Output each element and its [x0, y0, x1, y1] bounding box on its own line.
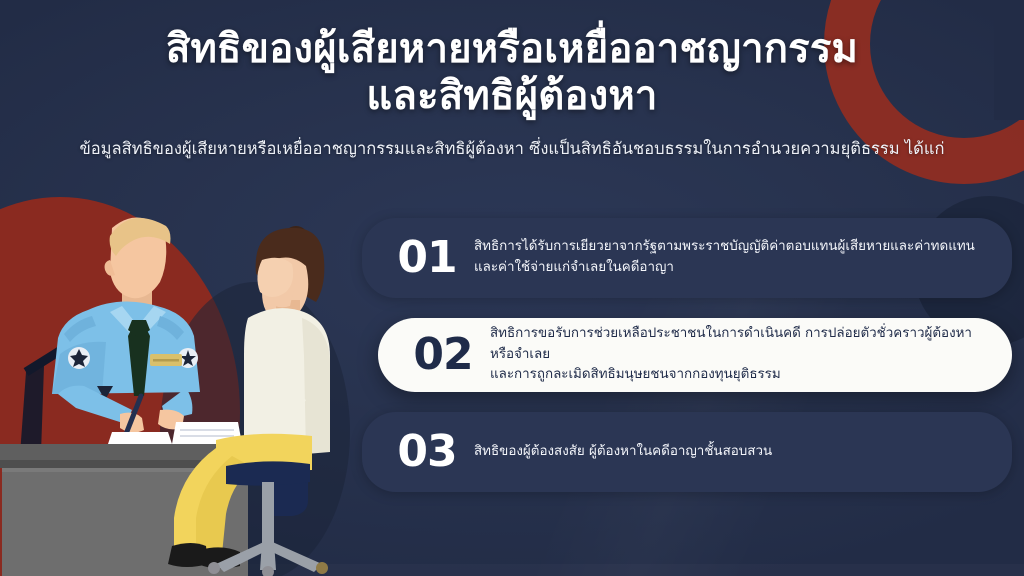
item-text-01-line-1: สิทธิการได้รับการเยียวยาจากรัฐตามพระราชบ… — [474, 239, 975, 254]
item-text-01: สิทธิการได้รับการเยียวยาจากรัฐตามพระราชบ… — [470, 237, 986, 279]
rights-item-02[interactable]: 02 สิทธิการขอรับการช่วยเหลือประชาชนในการ… — [378, 318, 1012, 392]
item-text-03-line-1: สิทธิของผู้ต้องสงสัย ผู้ต้องหาในคดีอาญาช… — [474, 444, 772, 459]
rights-item-01[interactable]: 01 สิทธิการได้รับการเยียวยาจากรัฐตามพระร… — [362, 218, 1012, 298]
page-title-line-1: สิทธิของผู้เสียหายหรือเหยื่ออาชญากรรม — [0, 26, 1024, 73]
slide-canvas: สิทธิของผู้เสียหายหรือเหยื่ออาชญากรรม แล… — [0, 0, 1024, 576]
item-text-02-line-2: และการถูกละเมิดสิทธิมนุษยชนจากกองทุนยุติ… — [490, 365, 986, 386]
item-text-03: สิทธิของผู้ต้องสงสัย ผู้ต้องหาในคดีอาญาช… — [470, 442, 986, 463]
page-subtitle: ข้อมูลสิทธิของผู้เสียหายหรือเหยื่ออาชญาก… — [0, 138, 1024, 160]
item-number-02: 02 — [400, 333, 486, 377]
item-number-01: 01 — [384, 236, 470, 280]
item-number-03: 03 — [384, 430, 470, 474]
rights-item-list: 01 สิทธิการได้รับการเยียวยาจากรัฐตามพระร… — [0, 218, 1024, 518]
item-text-02-line-1: สิทธิการขอรับการช่วยเหลือประชาชนในการดำเ… — [490, 326, 972, 362]
page-title-line-2: และสิทธิผู้ต้องหา — [0, 73, 1024, 120]
item-text-02: สิทธิการขอรับการช่วยเหลือประชาชนในการดำเ… — [486, 324, 986, 386]
rights-item-03[interactable]: 03 สิทธิของผู้ต้องสงสัย ผู้ต้องหาในคดีอา… — [362, 412, 1012, 492]
header-block: สิทธิของผู้เสียหายหรือเหยื่ออาชญากรรม แล… — [0, 26, 1024, 161]
item-text-01-line-2: และค่าใช้จ่ายแก่จำเลยในคดีอาญา — [474, 258, 986, 279]
